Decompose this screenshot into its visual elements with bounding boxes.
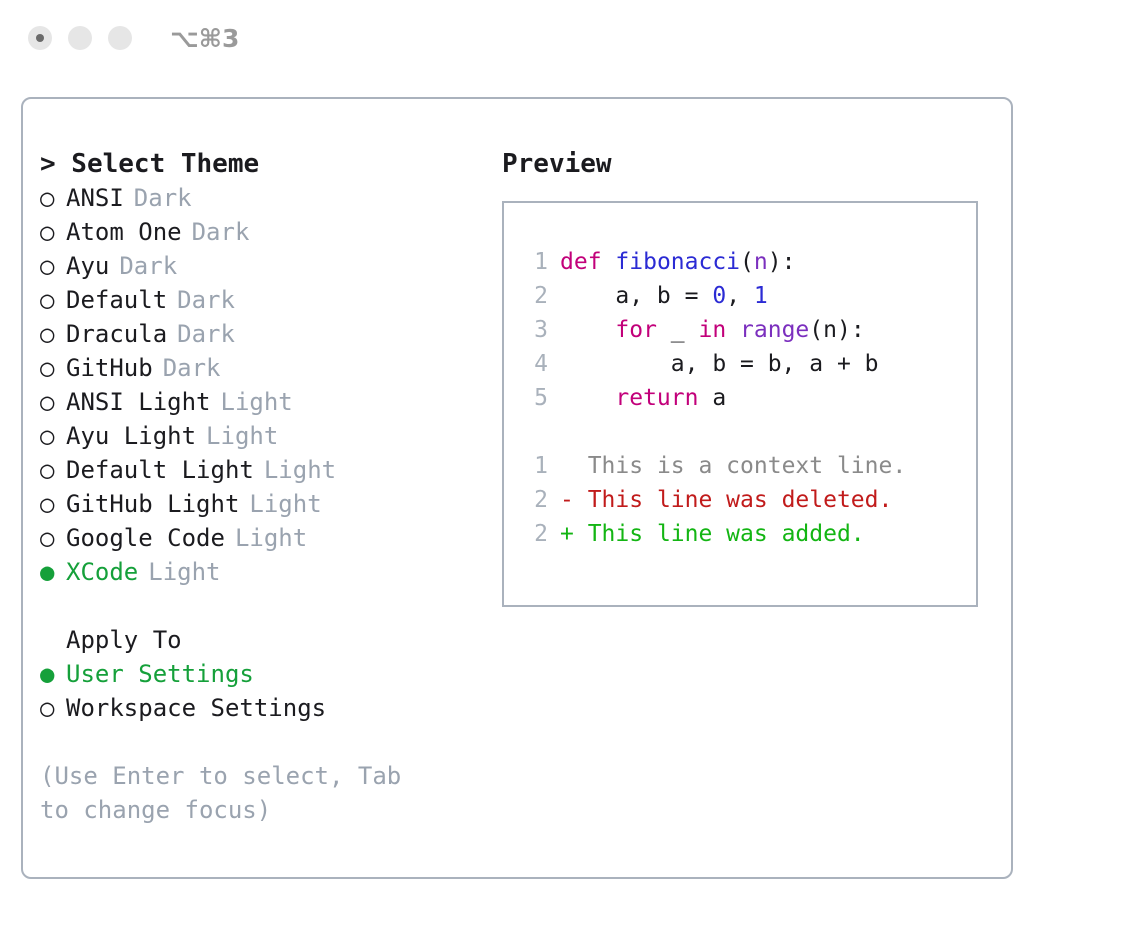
radio-unselected-icon[interactable]: ○	[40, 351, 66, 385]
theme-name-label: Atom One	[66, 215, 182, 249]
code-token	[560, 385, 615, 411]
theme-list-item[interactable]: ○ANSI LightLight	[40, 385, 490, 419]
theme-kind-label: Light	[221, 385, 293, 419]
diff-sign: -	[560, 483, 574, 517]
theme-name-label: Default	[66, 283, 167, 317]
code-line-content: a, b = 0, 1	[560, 279, 768, 313]
diff-text: This line was deleted.	[574, 483, 893, 517]
radio-unselected-icon[interactable]: ○	[40, 181, 66, 215]
code-token: 1	[754, 283, 768, 309]
code-sample: 1def fibonacci(n):2 a, b = 0, 13 for _ i…	[522, 245, 976, 415]
code-token: ,	[726, 283, 754, 309]
code-token: (n):	[809, 317, 864, 343]
code-token: fibonacci	[615, 249, 740, 275]
theme-list-item[interactable]: ○Ayu LightLight	[40, 419, 490, 453]
line-number: 1	[522, 245, 548, 279]
theme-kind-label: Light	[148, 555, 220, 589]
apply-to-label: User Settings	[66, 657, 254, 691]
diff-line: 1 This is a context line.	[522, 449, 976, 483]
keyboard-hint-text: (Use Enter to select, Tab to change focu…	[40, 759, 440, 827]
theme-name-label: Default Light	[66, 453, 254, 487]
theme-list-item[interactable]: ○GitHubDark	[40, 351, 490, 385]
code-token: _	[657, 317, 699, 343]
code-line-content: return a	[560, 381, 726, 415]
line-number: 1	[522, 449, 548, 483]
code-token: range	[740, 317, 809, 343]
code-token: def	[560, 249, 602, 275]
theme-picker-column: > Select Theme ○ANSIDark○Atom OneDark○Ay…	[40, 147, 490, 827]
diff-sign	[560, 449, 574, 483]
theme-list-item[interactable]: ○DefaultDark	[40, 283, 490, 317]
theme-name-label: XCode	[66, 555, 138, 589]
code-token	[602, 249, 616, 275]
code-token	[726, 317, 740, 343]
code-token: (	[740, 249, 754, 275]
radio-unselected-icon[interactable]: ○	[40, 249, 66, 283]
code-token: 0	[712, 283, 726, 309]
line-number: 2	[522, 517, 548, 551]
apply-to-heading: Apply To	[40, 623, 490, 657]
theme-list-item[interactable]: ○Atom OneDark	[40, 215, 490, 249]
preview-heading: Preview	[502, 147, 992, 181]
select-theme-heading: > Select Theme	[40, 147, 490, 181]
radio-unselected-icon[interactable]: ○	[40, 453, 66, 487]
theme-name-label: Dracula	[66, 317, 167, 351]
theme-list: ○ANSIDark○Atom OneDark○AyuDark○DefaultDa…	[40, 181, 490, 589]
code-token: n	[754, 249, 768, 275]
theme-kind-label: Dark	[163, 351, 221, 385]
code-token: return	[615, 385, 698, 411]
theme-kind-label: Dark	[177, 317, 235, 351]
code-token: a, b =	[560, 283, 712, 309]
diff-line: 2- This line was deleted.	[522, 483, 976, 517]
code-diff-spacer	[522, 415, 976, 449]
line-number: 2	[522, 279, 548, 313]
theme-kind-label: Light	[249, 487, 321, 521]
main-panel: > Select Theme ○ANSIDark○Atom OneDark○Ay…	[21, 97, 1013, 879]
apply-to-list: ●User Settings○Workspace Settings	[40, 657, 490, 725]
section-spacer	[40, 589, 490, 623]
radio-unselected-icon[interactable]: ○	[40, 521, 66, 555]
line-number: 3	[522, 313, 548, 347]
theme-list-item[interactable]: ○GitHub LightLight	[40, 487, 490, 521]
diff-sign: +	[560, 517, 574, 551]
theme-kind-label: Dark	[177, 283, 235, 317]
theme-name-label: GitHub	[66, 351, 153, 385]
hint-spacer	[40, 725, 490, 759]
code-line: 5 return a	[522, 381, 976, 415]
theme-name-label: Google Code	[66, 521, 225, 555]
diff-text: This line was added.	[574, 517, 865, 551]
apply-to-item[interactable]: ○Workspace Settings	[40, 691, 490, 725]
line-number: 2	[522, 483, 548, 517]
code-line-content: a, b = b, a + b	[560, 347, 879, 381]
radio-unselected-icon[interactable]: ○	[40, 317, 66, 351]
radio-unselected-icon[interactable]: ○	[40, 487, 66, 521]
theme-kind-label: Light	[206, 419, 278, 453]
keyboard-shortcut-label: ⌥⌘3	[170, 24, 239, 53]
radio-unselected-icon[interactable]: ○	[40, 283, 66, 317]
line-number: 4	[522, 347, 548, 381]
apply-to-item[interactable]: ●User Settings	[40, 657, 490, 691]
theme-name-label: GitHub Light	[66, 487, 239, 521]
apply-to-label: Workspace Settings	[66, 691, 326, 725]
radio-unselected-icon[interactable]: ○	[40, 385, 66, 419]
traffic-light-minimize-icon[interactable]	[68, 26, 92, 50]
code-line: 4 a, b = b, a + b	[522, 347, 976, 381]
theme-name-label: Ayu	[66, 249, 109, 283]
code-line-content: def fibonacci(n):	[560, 245, 795, 279]
theme-kind-label: Dark	[134, 181, 192, 215]
theme-name-label: ANSI	[66, 181, 124, 215]
radio-unselected-icon[interactable]: ○	[40, 215, 66, 249]
traffic-light-maximize-icon[interactable]	[108, 26, 132, 50]
code-token: a	[698, 385, 726, 411]
theme-kind-label: Light	[235, 521, 307, 555]
title-bar: ⌥⌘3	[0, 0, 1140, 76]
code-line: 2 a, b = 0, 1	[522, 279, 976, 313]
theme-kind-label: Dark	[119, 249, 177, 283]
code-token: a, b = b, a + b	[560, 351, 879, 377]
theme-list-item[interactable]: ○DraculaDark	[40, 317, 490, 351]
apply-to-heading-indent	[40, 623, 66, 657]
traffic-light-close-icon[interactable]	[28, 26, 52, 50]
theme-list-item[interactable]: ○Google CodeLight	[40, 521, 490, 555]
code-line-content: for _ in range(n):	[560, 313, 865, 347]
theme-name-label: Ayu Light	[66, 419, 196, 453]
app-window: ⌥⌘3 > Select Theme ○ANSIDark○Atom OneDar…	[0, 0, 1140, 934]
code-token: for	[615, 317, 657, 343]
line-number: 5	[522, 381, 548, 415]
diff-sample: 1 This is a context line.2- This line wa…	[522, 449, 976, 551]
theme-kind-label: Light	[264, 453, 336, 487]
radio-unselected-icon[interactable]: ○	[40, 419, 66, 453]
radio-unselected-icon[interactable]: ○	[40, 691, 66, 725]
theme-name-label: ANSI Light	[66, 385, 211, 419]
code-token: in	[698, 317, 726, 343]
code-line: 3 for _ in range(n):	[522, 313, 976, 347]
apply-to-heading-label: Apply To	[66, 623, 182, 657]
preview-code-box: 1def fibonacci(n):2 a, b = 0, 13 for _ i…	[502, 201, 978, 607]
theme-list-item[interactable]: ○Default LightLight	[40, 453, 490, 487]
diff-line: 2+ This line was added.	[522, 517, 976, 551]
code-token	[560, 317, 615, 343]
code-line: 1def fibonacci(n):	[522, 245, 976, 279]
theme-list-item[interactable]: ○ANSIDark	[40, 181, 490, 215]
traffic-light-dot-inner	[36, 34, 44, 42]
theme-kind-label: Dark	[192, 215, 250, 249]
theme-list-item[interactable]: ●XCodeLight	[40, 555, 490, 589]
theme-list-item[interactable]: ○AyuDark	[40, 249, 490, 283]
radio-selected-icon[interactable]: ●	[40, 657, 66, 691]
preview-column: Preview 1def fibonacci(n):2 a, b = 0, 13…	[502, 147, 992, 607]
diff-text: This is a context line.	[574, 449, 906, 483]
radio-selected-icon[interactable]: ●	[40, 555, 66, 589]
code-token: ):	[768, 249, 796, 275]
panel-columns: > Select Theme ○ANSIDark○Atom OneDark○Ay…	[23, 99, 1011, 877]
